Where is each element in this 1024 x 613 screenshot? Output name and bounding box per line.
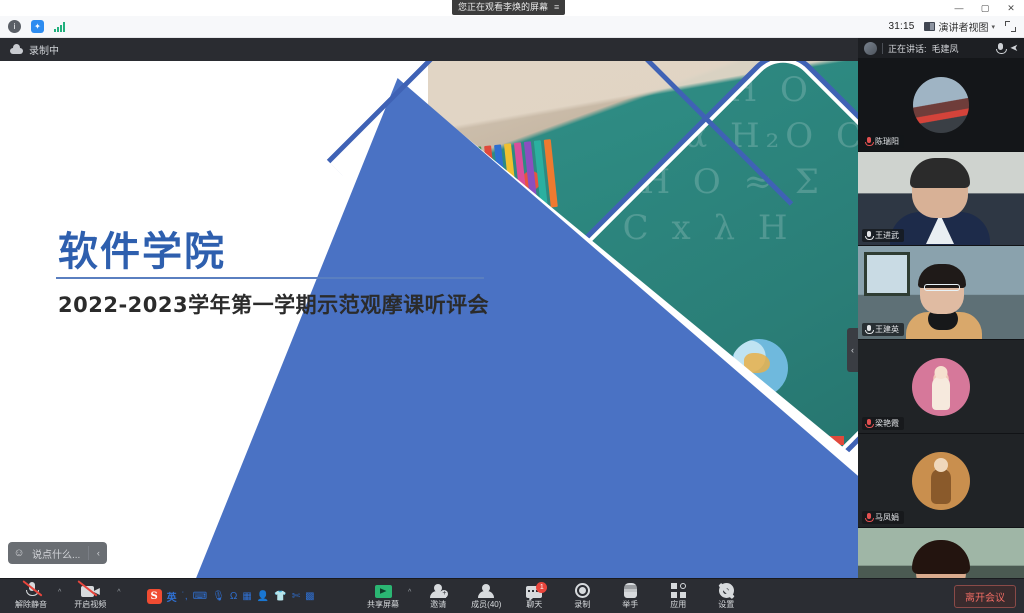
- pin-icon[interactable]: ➤: [1010, 43, 1018, 54]
- participant-name: 马凤娟: [875, 512, 899, 523]
- meeting-toolbar: 解除静音 ^ 开启视频 ^ S 英 ˙, ⌨ 🎙 Ω ▦ 👤 👕 ✄: [0, 578, 1024, 613]
- punctuation-icon[interactable]: ˙,: [182, 591, 188, 602]
- status-bar: i ✦ 31:15 演讲者视图 ▾: [0, 16, 1024, 38]
- shield-icon[interactable]: ✦: [31, 20, 44, 33]
- symbol-icon[interactable]: Ω: [230, 591, 237, 602]
- invite-label: 邀请: [430, 599, 446, 610]
- close-button[interactable]: ✕: [998, 0, 1024, 16]
- recording-indicator: 录制中: [0, 38, 858, 61]
- raise-hand-label: 举手: [622, 599, 638, 610]
- chat-icon: 1: [526, 582, 542, 598]
- avatar-head: [934, 458, 948, 472]
- recording-label: 录制中: [29, 42, 59, 57]
- active-speaker-bar: 正在讲话: 毛建凤 ➤: [858, 38, 1024, 58]
- participant-name: 梁艳霞: [875, 418, 899, 429]
- meeting-timer: 31:15: [888, 21, 914, 32]
- toolbox-icon[interactable]: ✄: [292, 591, 300, 602]
- glasses-icon: [924, 284, 960, 291]
- camera-off-icon: [81, 582, 100, 598]
- mute-button[interactable]: 解除静音: [6, 582, 56, 610]
- quick-chat-input[interactable]: ☺ 说点什么... ‹: [8, 542, 107, 564]
- members-button[interactable]: 成员(40): [463, 582, 509, 610]
- mic-icon[interactable]: [996, 43, 1005, 54]
- avatar: [912, 358, 970, 416]
- mic-muted-icon: [865, 137, 872, 146]
- slide-title: 软件学院: [58, 219, 226, 277]
- emoji-icon[interactable]: ☺: [8, 547, 30, 559]
- participant-tile[interactable]: 马凤娟: [858, 434, 1024, 528]
- participant-video-thumbnail: [913, 77, 969, 133]
- members-label: 成员(40): [471, 599, 501, 610]
- window-controls: — ▢ ✕: [946, 0, 1024, 16]
- presentation-slide: Y C c₂ H ON x=α H₂O CC₆ H O ≈ ΣΦ C x λ H: [0, 61, 858, 578]
- info-icon[interactable]: i: [8, 20, 21, 33]
- avatar-head: [935, 366, 948, 379]
- fullscreen-icon[interactable]: [1005, 21, 1016, 32]
- audio-options-caret-icon[interactable]: ^: [58, 589, 63, 604]
- maximize-button[interactable]: ▢: [972, 0, 998, 16]
- settings-gear-icon: [719, 582, 734, 598]
- participant-name-badge: 陈瑞阳: [862, 135, 904, 148]
- view-mode-label: 演讲者视图: [938, 19, 988, 34]
- chat-unread-badge: 1: [536, 582, 547, 593]
- toolbar-left-group: 解除静音 ^ 开启视频 ^ S 英 ˙, ⌨ 🎙 Ω ▦ 👤 👕 ✄: [0, 582, 319, 610]
- slide-subtitle: 2022-2023学年第一学期示范观摩课听评会: [58, 289, 489, 319]
- shared-screen-stage: 录制中 Y C c₂: [0, 38, 858, 578]
- chat-button[interactable]: 1 聊天: [511, 582, 557, 610]
- participant-name-badge: 梁艳霞: [862, 417, 904, 430]
- speaker-divider: [882, 43, 883, 54]
- share-screen-label: 共享屏幕: [367, 599, 399, 610]
- settings-button[interactable]: 设置: [703, 582, 749, 610]
- cloud-icon: [10, 46, 23, 54]
- video-options-caret-icon[interactable]: ^: [117, 589, 122, 604]
- quick-chat-collapse-icon[interactable]: ‹: [89, 548, 107, 558]
- meeting-window: 您正在观看李焕的屏幕 ≡ — ▢ ✕ i ✦ 31:15 演讲者视图 ▾: [0, 0, 1024, 613]
- tooltip-menu-icon[interactable]: ≡: [554, 0, 559, 15]
- mic-muted-icon: [865, 419, 872, 428]
- speaker-view-icon: [924, 22, 935, 31]
- mic-icon: [865, 325, 872, 334]
- title-bar: 您正在观看李焕的屏幕 ≡ — ▢ ✕: [0, 0, 1024, 16]
- mic-icon: [865, 231, 872, 240]
- avatar-figure: [931, 468, 951, 504]
- speaking-name-label: 毛建凤: [932, 42, 959, 55]
- share-screen-icon: [375, 582, 392, 598]
- participant-tile[interactable]: 梁艳霞: [858, 340, 1024, 434]
- view-mode-selector[interactable]: 演讲者视图 ▾: [924, 19, 995, 34]
- raise-hand-button[interactable]: 举手: [607, 582, 653, 610]
- share-options-caret-icon[interactable]: ^: [408, 589, 413, 604]
- status-bar-right: 31:15 演讲者视图 ▾: [888, 19, 1024, 34]
- video-button[interactable]: 开启视频: [65, 582, 115, 610]
- ime-mode-label[interactable]: 英: [167, 589, 177, 604]
- video-button-label: 开启视频: [74, 599, 106, 610]
- toolbar-center-group: 共享屏幕 ^ + 邀请 成员(40) 1 聊天: [360, 582, 749, 610]
- participant-panel: ‹ 正在讲话: 毛建凤 ➤ 陈瑞阳: [858, 38, 1024, 578]
- user-icon[interactable]: 👤: [257, 591, 269, 602]
- screen-share-tooltip-text: 您正在观看李焕的屏幕: [458, 0, 548, 15]
- record-button[interactable]: 录制: [559, 582, 605, 610]
- panel-collapse-button[interactable]: ‹: [847, 328, 858, 372]
- raise-hand-icon: [624, 582, 637, 598]
- signal-bars-icon[interactable]: [54, 22, 65, 32]
- apps-icon: [671, 582, 686, 598]
- leave-meeting-button[interactable]: 离开会议: [954, 585, 1016, 608]
- participant-tile[interactable]: 王建英: [858, 246, 1024, 340]
- apps-button[interactable]: 应用: [655, 582, 701, 610]
- quick-chat-placeholder[interactable]: 说点什么...: [30, 546, 88, 561]
- participant-tile[interactable]: 王进武: [858, 152, 1024, 246]
- voice-input-icon[interactable]: 🎙: [212, 591, 225, 602]
- chevron-down-icon[interactable]: ▾: [991, 23, 995, 31]
- record-icon: [575, 582, 590, 598]
- sogou-logo-icon[interactable]: S: [147, 589, 162, 604]
- minimize-button[interactable]: —: [946, 0, 972, 16]
- avatar-figure: [932, 376, 950, 410]
- avatar: [912, 452, 970, 510]
- mute-button-label: 解除静音: [15, 599, 47, 610]
- sogou-ime-toolbar[interactable]: S 英 ˙, ⌨ 🎙 Ω ▦ 👤 👕 ✄ ▩: [143, 587, 319, 605]
- share-screen-button[interactable]: 共享屏幕: [360, 582, 406, 610]
- skin-icon[interactable]: 👕: [274, 591, 286, 602]
- keyboard-icon[interactable]: ⌨: [193, 591, 207, 602]
- members-icon: [477, 582, 495, 598]
- invite-icon: +: [429, 582, 447, 598]
- participant-name: 王进武: [875, 230, 899, 241]
- invite-button[interactable]: + 邀请: [415, 582, 461, 610]
- background-window: [864, 252, 910, 296]
- speaking-prefix-label: 正在讲话:: [888, 42, 927, 55]
- screen-share-tooltip: 您正在观看李焕的屏幕 ≡: [452, 0, 565, 15]
- participant-tile[interactable]: 陈瑞阳: [858, 58, 1024, 152]
- participant-name: 王建英: [875, 324, 899, 335]
- apps-label: 应用: [670, 599, 686, 610]
- chat-label: 聊天: [526, 599, 542, 610]
- microphone-muted-icon: [26, 582, 37, 598]
- participant-name-badge: 马凤娟: [862, 511, 904, 524]
- participant-name-badge: 王进武: [862, 229, 904, 242]
- grid-icon[interactable]: ▦: [242, 591, 251, 602]
- slide-title-rule: [56, 277, 484, 279]
- avatar: [864, 42, 877, 55]
- mic-muted-icon: [865, 513, 872, 522]
- speaker-bar-icons: ➤: [996, 43, 1018, 54]
- more-icon[interactable]: ▩: [305, 591, 314, 602]
- record-label: 录制: [574, 599, 590, 610]
- settings-label: 设置: [718, 599, 734, 610]
- participant-name-badge: 王建英: [862, 323, 904, 336]
- participant-name: 陈瑞阳: [875, 136, 899, 147]
